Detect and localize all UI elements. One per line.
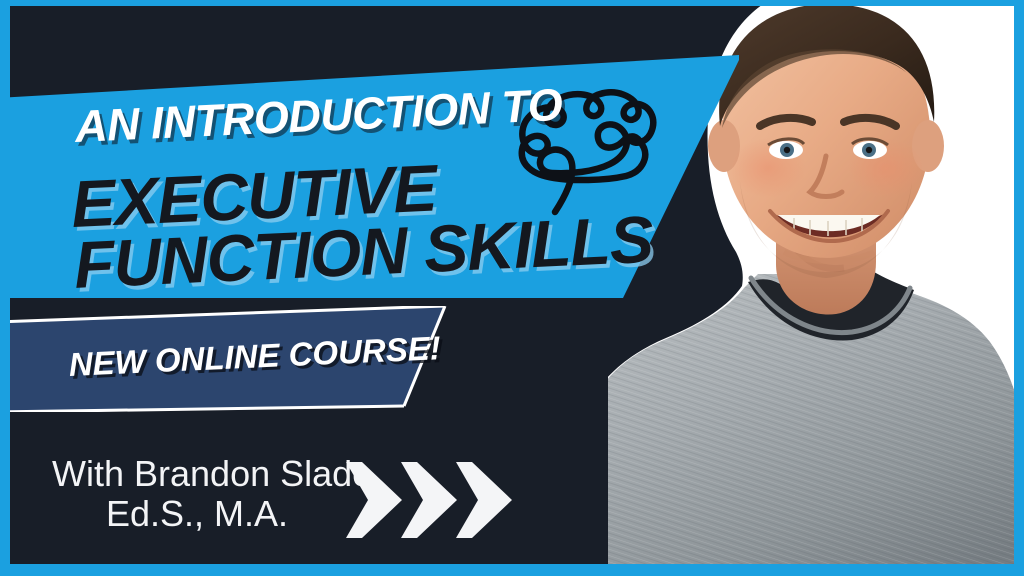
thumbnail-canvas: AN INTRODUCTION TO EXECUTIVE FUNCTION SK… — [0, 0, 1024, 576]
presenter-line-2: Ed.S., M.A. — [52, 494, 342, 534]
page-title: EXECUTIVE FUNCTION SKILLS — [70, 148, 654, 296]
inner-dark-panel: AN INTRODUCTION TO EXECUTIVE FUNCTION SK… — [10, 6, 1014, 564]
presenter-line-1: With Brandon Slade, — [52, 454, 342, 494]
presenter-credit: With Brandon Slade, Ed.S., M.A. — [52, 454, 342, 535]
triple-chevron-right-icon — [346, 458, 526, 542]
